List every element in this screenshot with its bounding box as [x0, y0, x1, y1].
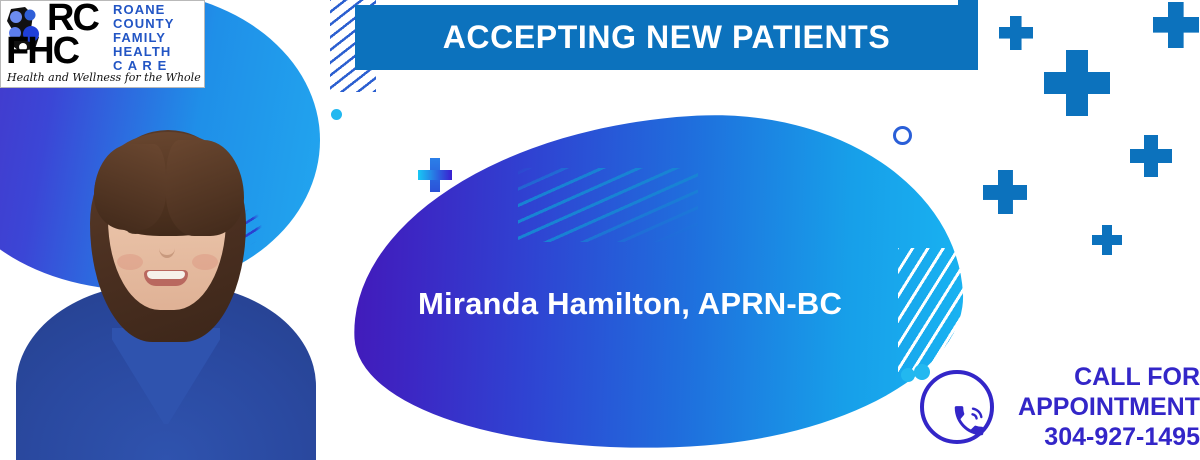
cta-line-appointment: APPOINTMENT: [1018, 392, 1200, 422]
medical-cross-icon: [1044, 50, 1110, 116]
portrait-cheek-right: [192, 254, 218, 270]
main-gradient-blob: [344, 102, 970, 460]
logo-word-county: COUNTY: [113, 17, 175, 30]
cta-text-block: CALL FOR APPOINTMENT 304-927-1495: [1018, 362, 1200, 452]
medical-cross-icon: [983, 170, 1027, 214]
cta-phone-number[interactable]: 304-927-1495: [1018, 422, 1200, 452]
logo: RC FHC ROANE COUNTY FAMILY HEALTH C A R …: [0, 0, 205, 88]
portrait-hair-left: [94, 144, 166, 230]
logo-tagline: Health and Wellness for the Whole Family: [7, 71, 205, 84]
diagonal-stripes-icon: [518, 168, 698, 242]
call-to-action[interactable]: CALL FOR APPOINTMENT 304-927-1495: [912, 360, 1200, 460]
logo-word-roane: ROANE: [113, 3, 165, 16]
medical-cross-icon: [999, 16, 1033, 50]
plus-icon: [418, 158, 452, 192]
phone-icon-circle[interactable]: [920, 370, 994, 444]
accepting-new-patients-banner: ACCEPTING NEW PATIENTS: [355, 5, 978, 70]
cta-line-call-for: CALL FOR: [1018, 362, 1200, 392]
circle-outline-icon: [893, 126, 912, 145]
avatar: [16, 96, 316, 460]
dot-icon: [331, 109, 342, 120]
healthcare-ad-banner: ACCEPTING NEW PATIENTS Miranda Hamilton,…: [0, 0, 1200, 460]
logo-initials-fhc: FHC: [6, 32, 78, 70]
provider-name: Miranda Hamilton, APRN-BC: [418, 286, 842, 322]
medical-cross-icon: [1153, 2, 1199, 48]
medical-cross-icon: [1130, 135, 1172, 177]
logo-word-health: HEALTH: [113, 45, 171, 58]
page-title: ACCEPTING NEW PATIENTS: [443, 19, 891, 56]
portrait-teeth: [147, 271, 185, 279]
portrait-nose: [159, 238, 175, 258]
phone-call-icon: [950, 402, 988, 440]
dot-icon: [914, 364, 930, 380]
logo-word-family: FAMILY: [113, 31, 166, 44]
portrait-hair-right: [166, 140, 244, 236]
portrait-cheek-left: [117, 254, 143, 270]
medical-cross-icon: [1092, 225, 1122, 255]
